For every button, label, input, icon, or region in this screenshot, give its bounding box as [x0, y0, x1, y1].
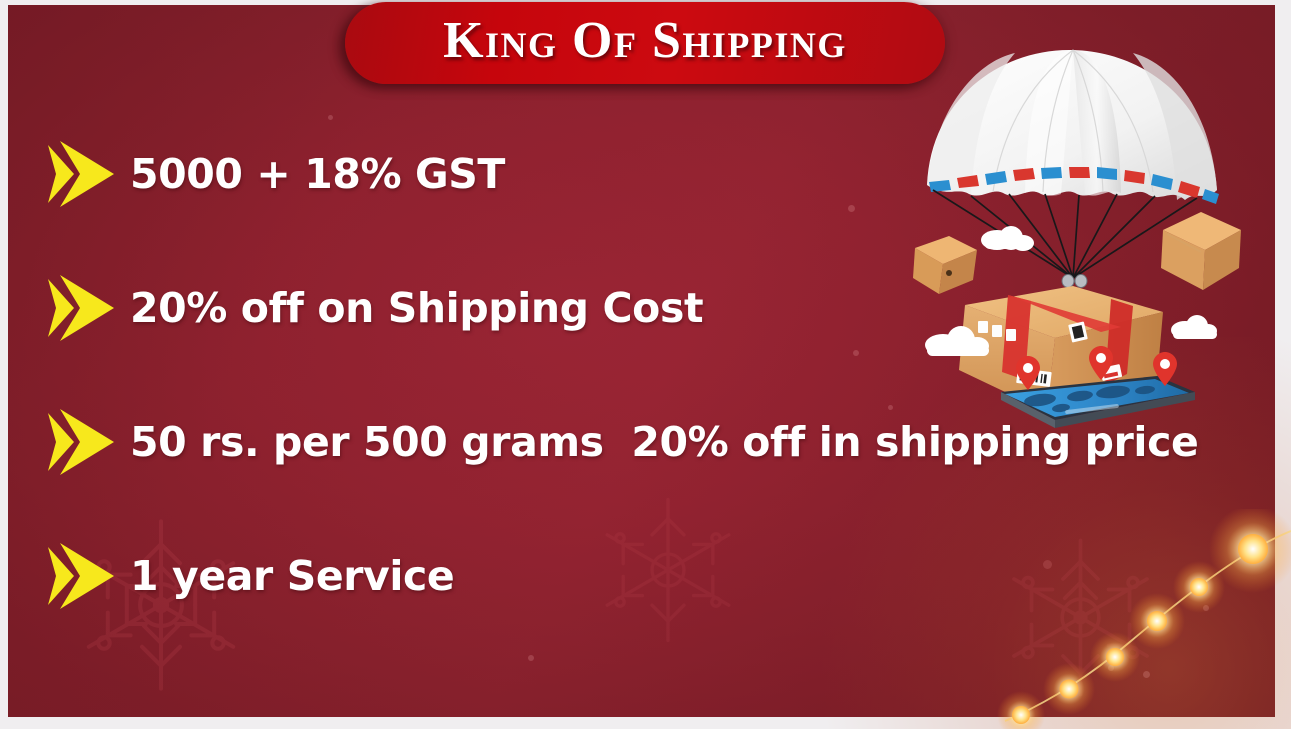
list-item-label: 1 year Service — [130, 556, 454, 597]
list-item-label: 20% off on Shipping Cost — [130, 288, 703, 329]
page-title: King of Shipping — [443, 15, 847, 71]
list-item: 5000 + 18% GST — [44, 140, 1224, 208]
list-item: 50 rs. per 500 grams 20% off in shipping… — [44, 408, 1224, 476]
list-item-label: 5000 + 18% GST — [130, 154, 505, 195]
title-badge: King of Shipping — [345, 2, 945, 84]
double-chevron-arrow-icon — [44, 269, 116, 347]
list-item-label: 50 rs. per 500 grams 20% off in shipping… — [130, 422, 1198, 463]
list-item: 1 year Service — [44, 542, 1224, 610]
feature-list: 5000 + 18% GST 20% off on Shipping Cost … — [44, 140, 1224, 610]
double-chevron-arrow-icon — [44, 403, 116, 481]
double-chevron-arrow-icon — [44, 537, 116, 615]
list-item: 20% off on Shipping Cost — [44, 274, 1224, 342]
promotional-banner: King of Shipping 5000 + 18% GST 20% off … — [0, 0, 1291, 729]
double-chevron-arrow-icon — [44, 135, 116, 213]
